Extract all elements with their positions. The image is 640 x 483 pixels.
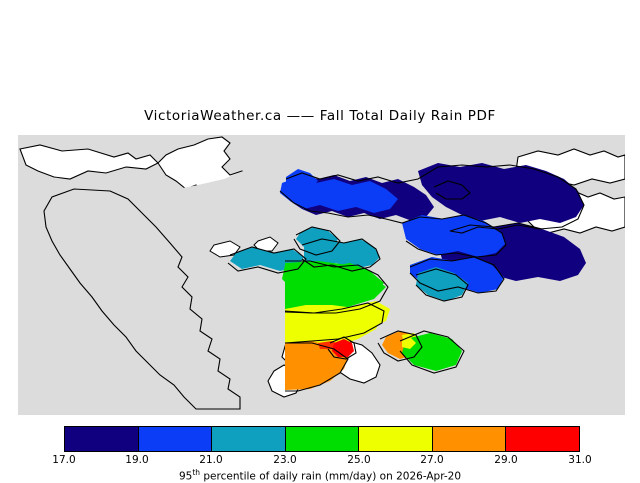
colorbar-segment-1 [65, 427, 139, 451]
colorbar-gradient [64, 426, 580, 452]
map-svg [18, 135, 625, 415]
caption-percentile-number: 95 [179, 471, 192, 483]
colorbar-segment-7 [506, 427, 579, 451]
colorbar-tick-4: 25.0 [347, 454, 370, 466]
colorbar: 17.0 19.0 21.0 23.0 25.0 27.0 29.0 31.0 … [0, 424, 640, 480]
colorbar-tick-labels: 17.0 19.0 21.0 23.0 25.0 27.0 29.0 31.0 [0, 454, 640, 468]
colorbar-segment-3 [212, 427, 286, 451]
page-title: VictoriaWeather.ca —— Fall Total Daily R… [0, 108, 640, 124]
colorbar-tick-1: 19.0 [125, 454, 148, 466]
caption-percentile-suffix: th [192, 468, 200, 477]
precipitation-map [18, 135, 625, 415]
colorbar-segment-6 [433, 427, 507, 451]
colorbar-caption: 95th percentile of daily rain (mm/day) o… [0, 468, 640, 483]
colorbar-segment-2 [139, 427, 213, 451]
colorbar-segment-4 [286, 427, 360, 451]
colorbar-tick-2: 21.0 [199, 454, 222, 466]
colorbar-tick-0: 17.0 [52, 454, 75, 466]
colorbar-tick-7: 31.0 [568, 454, 591, 466]
colorbar-tick-6: 29.0 [494, 454, 517, 466]
caption-rest: percentile of daily rain (mm/day) on 202… [200, 471, 461, 483]
colorbar-tick-5: 27.0 [420, 454, 443, 466]
colorbar-segment-5 [359, 427, 433, 451]
colorbar-tick-3: 23.0 [273, 454, 296, 466]
